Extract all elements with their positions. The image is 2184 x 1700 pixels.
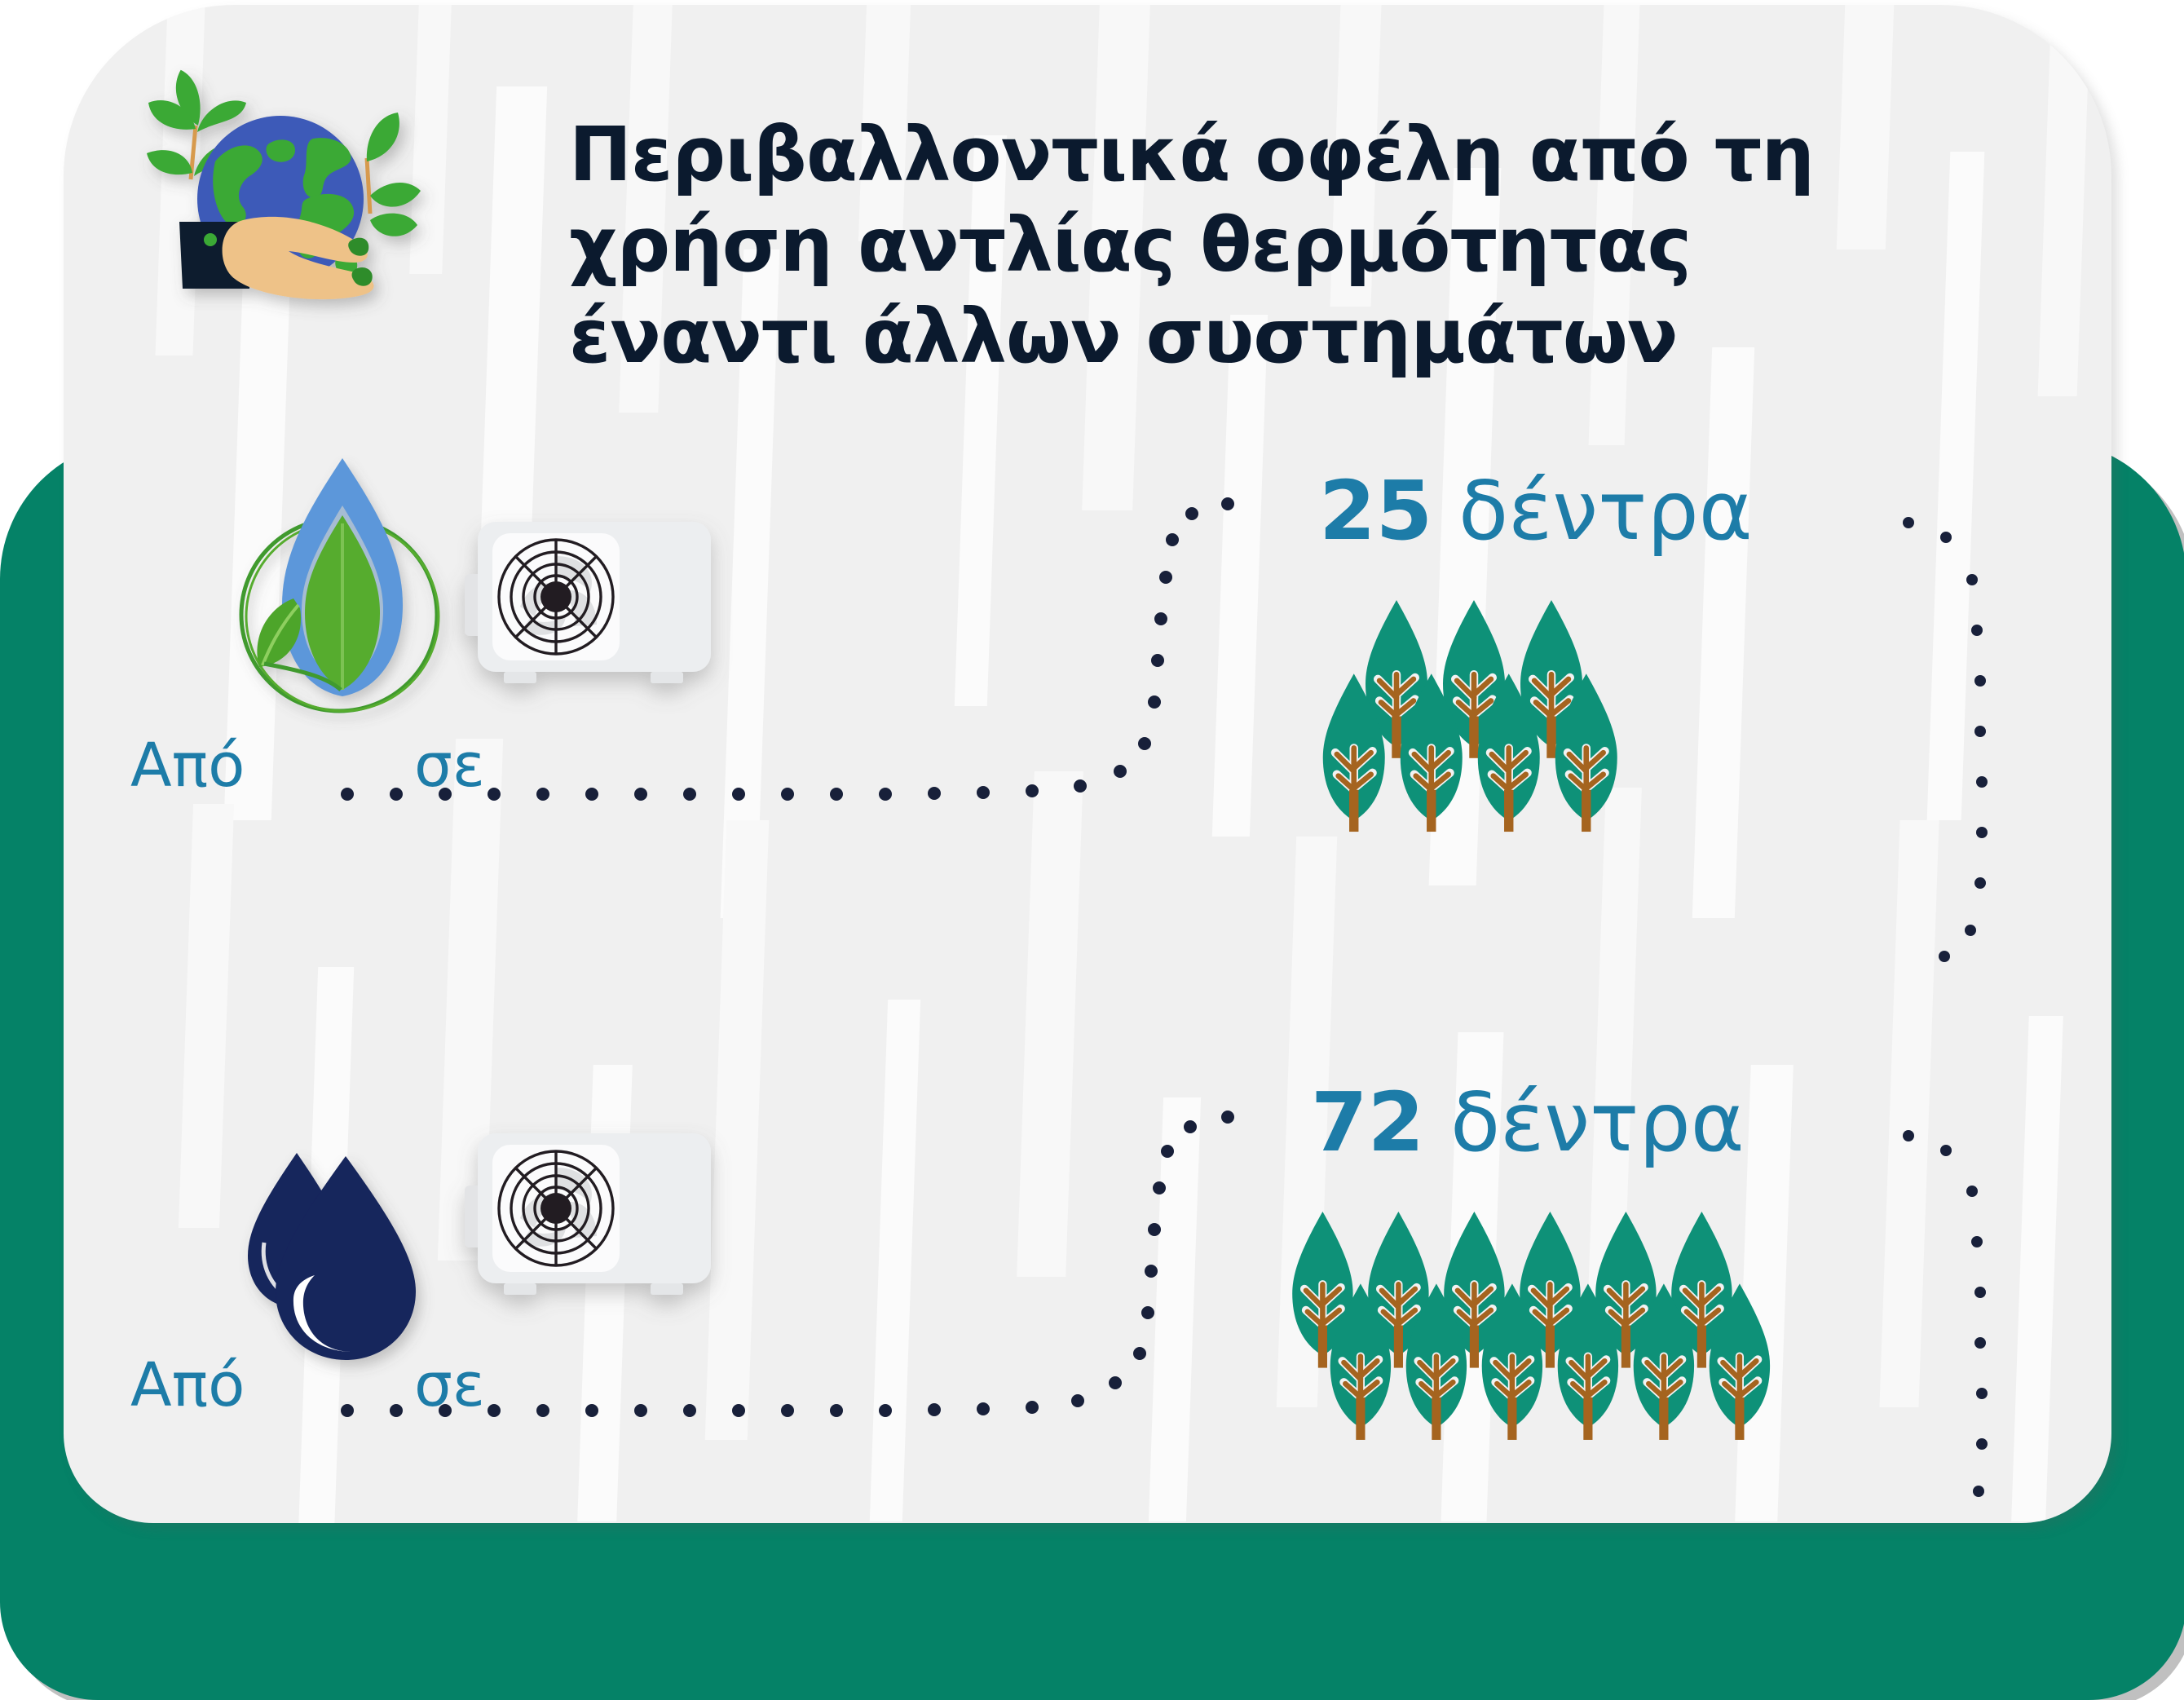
row-gas-from-label: Από	[130, 731, 245, 801]
count-unit-oil: δέντρα	[1450, 1075, 1745, 1170]
count-unit-gas: δέντρα	[1458, 463, 1753, 559]
count-value-gas: 25	[1319, 463, 1432, 559]
infographic-root: Περιβαλλοντικά οφέλη από τη χρήση αντλία…	[0, 0, 2184, 1697]
row-oil: Από	[64, 1057, 2111, 1513]
content-card: Περιβαλλοντικά οφέλη από τη χρήση αντλία…	[64, 5, 2111, 1523]
tree-group-gas	[1319, 600, 1645, 853]
count-line-gas: 25 δέντρα	[1319, 463, 1753, 559]
heat-pump-icon-gas	[453, 510, 722, 706]
count-line-oil: 72 δέντρα	[1311, 1075, 1745, 1170]
oil-droplet-icon	[227, 1146, 455, 1375]
earth-in-hand-icon	[121, 54, 430, 347]
header: Περιβαλλοντικά οφέλη από τη χρήση αντλία…	[64, 5, 2111, 413]
tree-group-oil	[1262, 1212, 1719, 1473]
page-title: Περιβαλλοντικά οφέλη από τη χρήση αντλία…	[569, 109, 1841, 382]
count-value-oil: 72	[1311, 1075, 1424, 1170]
heat-pump-icon-oil	[453, 1122, 722, 1318]
row-gas: Από	[64, 429, 2111, 885]
gas-flame-leaf-icon	[218, 453, 455, 731]
